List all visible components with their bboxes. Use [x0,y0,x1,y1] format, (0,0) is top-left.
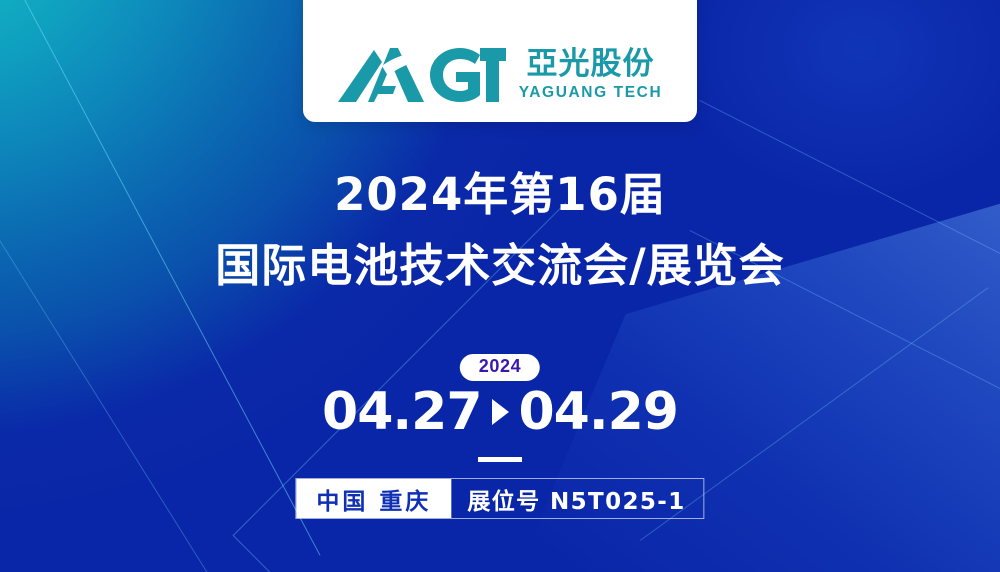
date-start: 04.27 [322,386,481,438]
brand-name-en: YAGUANG TECH [519,85,663,101]
brand-logo-inner: 亞光股份 YAGUANG TECH [338,44,663,106]
event-headline: 2024年第16届 国际电池技术交流会/展览会 [0,168,1000,292]
agt-logo-icon [338,44,506,106]
brand-name-cn: 亞光股份 [526,49,654,80]
venue-booth: 展位号 N5T025-1 [451,479,703,518]
headline-line-1: 2024年第16届 [0,168,1000,221]
event-date-range: 04.27 04.29 [0,386,1000,438]
date-end: 04.29 [519,386,678,438]
event-promo-banner: 亞光股份 YAGUANG TECH 2024年第16届 国际电池技术交流会/展览… [0,0,1000,572]
venue-bar: 中国 重庆 展位号 N5T025-1 [295,478,704,519]
headline-line-2: 国际电池技术交流会/展览会 [0,239,1000,292]
venue-city: 中国 重庆 [296,479,451,518]
play-triangle-icon [492,399,509,425]
divider-rule [478,457,522,462]
year-badge: 2024 [460,354,540,381]
brand-logo-card: 亞光股份 YAGUANG TECH [303,0,697,122]
brand-wordmark: 亞光股份 YAGUANG TECH [519,49,663,101]
